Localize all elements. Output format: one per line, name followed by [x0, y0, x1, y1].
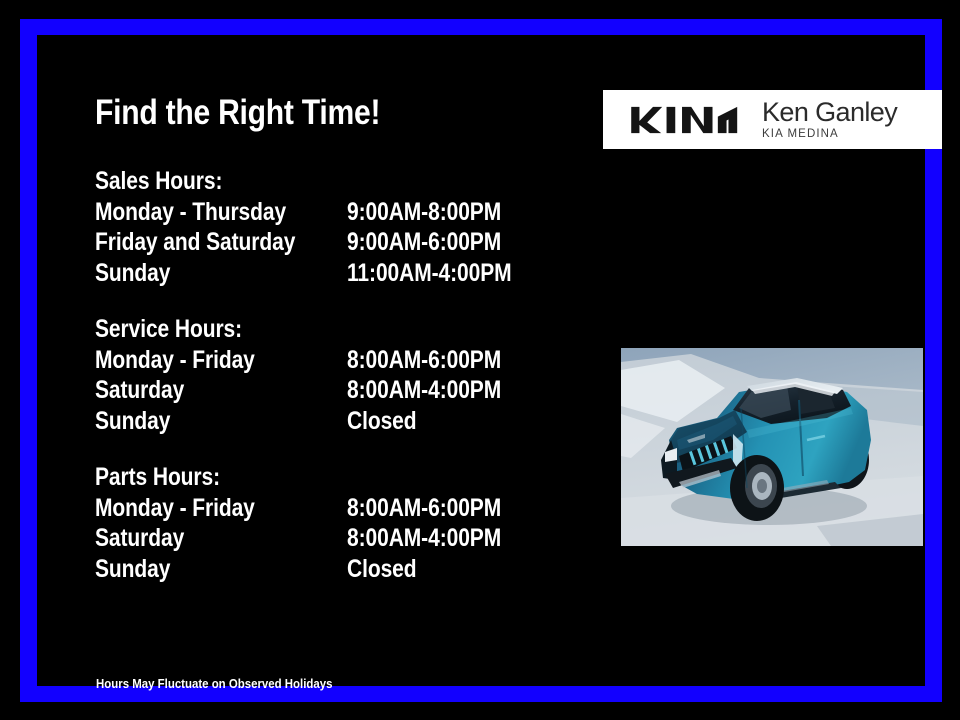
- hours-row-time: 9:00AM-6:00PM: [347, 227, 501, 258]
- hours-row-time: Closed: [347, 554, 417, 585]
- hours-row-time: 8:00AM-4:00PM: [347, 523, 501, 554]
- hours-row-time: 11:00AM-4:00PM: [347, 258, 512, 289]
- hours-row-day: Monday - Friday: [95, 345, 255, 376]
- slide-root: Find the Right Time! Sales Hours: Monday…: [0, 0, 960, 720]
- hours-row-day: Sunday: [95, 406, 170, 437]
- hours-row-day: Saturday: [95, 375, 184, 406]
- hours-row-day: Monday - Thursday: [95, 197, 286, 228]
- hours-row-time: 8:00AM-4:00PM: [347, 375, 501, 406]
- hours-row: Monday - Friday 8:00AM-6:00PM: [95, 345, 490, 376]
- hours-row-day: Sunday: [95, 258, 170, 289]
- dealer-name-block: Ken Ganley KIA MEDINA: [762, 99, 897, 141]
- hours-row: Saturday 8:00AM-4:00PM: [95, 375, 490, 406]
- kia-logo-icon: [624, 105, 742, 135]
- hours-row: Saturday 8:00AM-4:00PM: [95, 523, 490, 554]
- page-title: Find the Right Time!: [95, 95, 380, 132]
- hours-row: Sunday 11:00AM-4:00PM: [95, 258, 490, 289]
- hours-row: Monday - Friday 8:00AM-6:00PM: [95, 493, 490, 524]
- dealer-logo-lockup: Ken Ganley KIA MEDINA: [603, 90, 942, 149]
- hours-row-time: 9:00AM-8:00PM: [347, 197, 501, 228]
- hours-row: Monday - Thursday 9:00AM-8:00PM: [95, 197, 490, 228]
- hours-row: Sunday Closed: [95, 554, 490, 585]
- hours-row-day: Sunday: [95, 554, 170, 585]
- hours-block-parts: Parts Hours: Monday - Friday 8:00AM-6:00…: [95, 462, 565, 584]
- dealer-name: Ken Ganley: [762, 99, 897, 126]
- kia-ev9-suv-photo: [621, 348, 923, 546]
- holidays-disclaimer: Hours May Fluctuate on Observed Holidays: [96, 676, 332, 691]
- slide-content-area: Find the Right Time! Sales Hours: Monday…: [37, 35, 925, 686]
- hours-row: Sunday Closed: [95, 406, 490, 437]
- hours-block-title: Parts Hours:: [95, 462, 490, 493]
- hours-row-time: 8:00AM-6:00PM: [347, 493, 501, 524]
- hours-block-service: Service Hours: Monday - Friday 8:00AM-6:…: [95, 314, 565, 436]
- hours-block-title: Service Hours:: [95, 314, 490, 345]
- hours-block-title: Sales Hours:: [95, 166, 490, 197]
- hours-row-time: Closed: [347, 406, 417, 437]
- blue-border-frame: Find the Right Time! Sales Hours: Monday…: [20, 19, 942, 702]
- hours-row-day: Friday and Saturday: [95, 227, 295, 258]
- hours-row: Friday and Saturday 9:00AM-6:00PM: [95, 227, 490, 258]
- dealer-subtitle: KIA MEDINA: [762, 129, 897, 141]
- hours-row-day: Saturday: [95, 523, 184, 554]
- hours-block-sales: Sales Hours: Monday - Thursday 9:00AM-8:…: [95, 166, 565, 288]
- hours-row-time: 8:00AM-6:00PM: [347, 345, 501, 376]
- hours-list: Sales Hours: Monday - Thursday 9:00AM-8:…: [95, 166, 565, 584]
- hours-row-day: Monday - Friday: [95, 493, 255, 524]
